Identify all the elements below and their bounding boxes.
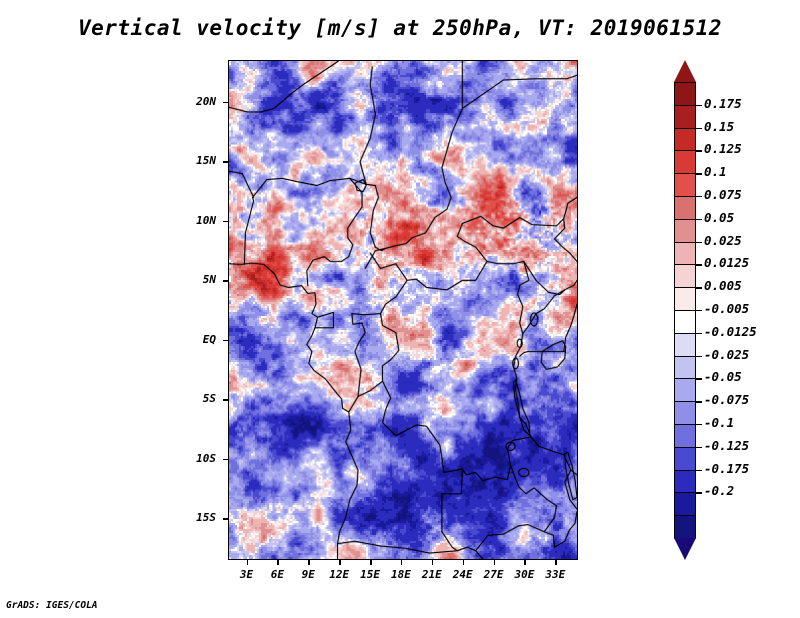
colorbar-label--0.005: -0.005 (704, 303, 749, 316)
country-borders-overlay (229, 61, 577, 559)
colorbar-swatch[interactable] (674, 287, 696, 311)
lat-tick-mark (223, 518, 228, 520)
lon-tick-mark (370, 560, 372, 565)
colorbar-swatch[interactable] (674, 173, 696, 197)
colorbar-swatch[interactable] (674, 492, 696, 516)
lon-tick-mark (308, 560, 310, 565)
colorbar-label--0.05: -0.05 (704, 371, 742, 384)
colorbar-tick (696, 492, 702, 493)
colorbar-label--0.025: -0.025 (704, 349, 749, 362)
colorbar-label--0.125: -0.125 (704, 440, 749, 453)
lat-tick-mark (223, 340, 228, 342)
colorbar-label--0.175: -0.175 (704, 463, 749, 476)
colorbar-swatch[interactable] (674, 515, 696, 539)
colorbar-tick (696, 287, 702, 288)
lon-tick-mark (524, 560, 526, 565)
colorbar-swatch[interactable] (674, 264, 696, 288)
lon-tick-mark (247, 560, 249, 565)
colorbar-swatch[interactable] (674, 196, 696, 220)
map-plot-area[interactable] (228, 60, 578, 560)
lon-tick-label-18E: 18E (384, 568, 418, 581)
colorbar-tick (696, 447, 702, 448)
colorbar-label--0.0125: -0.0125 (704, 326, 757, 339)
colorbar-label-0.075: 0.075 (704, 189, 742, 202)
lat-tick-label-10N: 10N (176, 214, 216, 227)
colorbar-tick (696, 128, 702, 129)
colorbar-swatch[interactable] (674, 401, 696, 425)
attribution-footer: GrADS: IGES/COLA (6, 600, 98, 611)
colorbar-swatch[interactable] (674, 333, 696, 357)
colorbar-label--0.075: -0.075 (704, 394, 749, 407)
colorbar-tick (696, 378, 702, 379)
colorbar-label-0.125: 0.125 (704, 143, 742, 156)
lon-tick-mark (432, 560, 434, 565)
lon-tick-label-12E: 12E (322, 568, 356, 581)
colorbar-label--0.1: -0.1 (704, 417, 734, 430)
colorbar-swatch[interactable] (674, 424, 696, 448)
colorbar-tick (696, 242, 702, 243)
colorbar-tick (696, 219, 702, 220)
colorbar-swatch[interactable] (674, 105, 696, 129)
lon-tick-mark (494, 560, 496, 565)
colorbar-label-0.1: 0.1 (704, 166, 727, 179)
lon-tick-label-30E: 30E (507, 568, 541, 581)
lat-tick-mark (223, 102, 228, 104)
colorbar-swatch[interactable] (674, 150, 696, 174)
lat-tick-label-5N: 5N (176, 273, 216, 286)
lat-tick-label-15S: 15S (176, 511, 216, 524)
lat-tick-mark (223, 399, 228, 401)
colorbar-swatch[interactable] (674, 356, 696, 380)
page-title: Vertical velocity [m/s] at 250hPa, VT: 2… (0, 16, 800, 40)
lat-tick-label-15N: 15N (176, 154, 216, 167)
colorbar-tick (696, 470, 702, 471)
colorbar-label-0.005: 0.005 (704, 280, 742, 293)
lat-tick-mark (223, 161, 228, 163)
colorbar-max-arrow (674, 60, 696, 82)
colorbar-tick (696, 356, 702, 357)
lat-tick-label-20N: 20N (176, 95, 216, 108)
colorbar-tick (696, 424, 702, 425)
colorbar-swatch[interactable] (674, 219, 696, 243)
lon-tick-label-15E: 15E (353, 568, 387, 581)
colorbar-min-arrow (674, 538, 696, 560)
colorbar-tick (696, 196, 702, 197)
colorbar-tick (696, 173, 702, 174)
lon-tick-mark (277, 560, 279, 565)
lat-tick-label-EQ: EQ (176, 333, 216, 346)
colorbar-label-0.0125: 0.0125 (704, 257, 749, 270)
lon-tick-mark (401, 560, 403, 565)
lon-tick-label-33E: 33E (538, 568, 572, 581)
lon-tick-label-9E: 9E (291, 568, 325, 581)
lon-tick-label-3E: 3E (230, 568, 264, 581)
lat-tick-mark (223, 280, 228, 282)
colorbar-swatch[interactable] (674, 447, 696, 471)
lon-tick-label-24E: 24E (446, 568, 480, 581)
lon-tick-label-27E: 27E (477, 568, 511, 581)
lon-tick-label-6E: 6E (260, 568, 294, 581)
lat-tick-label-10S: 10S (176, 452, 216, 465)
colorbar-tick (696, 401, 702, 402)
colorbar-tick (696, 310, 702, 311)
lat-tick-label-5S: 5S (176, 392, 216, 405)
colorbar-label--0.2: -0.2 (704, 485, 734, 498)
lon-tick-label-21E: 21E (415, 568, 449, 581)
colorbar-tick (696, 333, 702, 334)
colorbar-swatch[interactable] (674, 378, 696, 402)
colorbar-swatch[interactable] (674, 242, 696, 266)
colorbar-tick (696, 264, 702, 265)
colorbar-label-0.175: 0.175 (704, 98, 742, 111)
colorbar-tick (696, 150, 702, 151)
colorbar[interactable]: 0.1750.150.1250.10.0750.050.0250.01250.0… (674, 60, 696, 560)
colorbar-swatch[interactable] (674, 470, 696, 494)
colorbar-label-0.025: 0.025 (704, 235, 742, 248)
lat-tick-mark (223, 221, 228, 223)
colorbar-swatch[interactable] (674, 310, 696, 334)
lon-tick-mark (339, 560, 341, 565)
colorbar-swatch[interactable] (674, 82, 696, 106)
colorbar-tick (696, 105, 702, 106)
lon-tick-mark (463, 560, 465, 565)
colorbar-label-0.05: 0.05 (704, 212, 734, 225)
lat-tick-mark (223, 459, 228, 461)
lon-tick-mark (555, 560, 557, 565)
colorbar-label-0.15: 0.15 (704, 121, 734, 134)
colorbar-swatch[interactable] (674, 128, 696, 152)
